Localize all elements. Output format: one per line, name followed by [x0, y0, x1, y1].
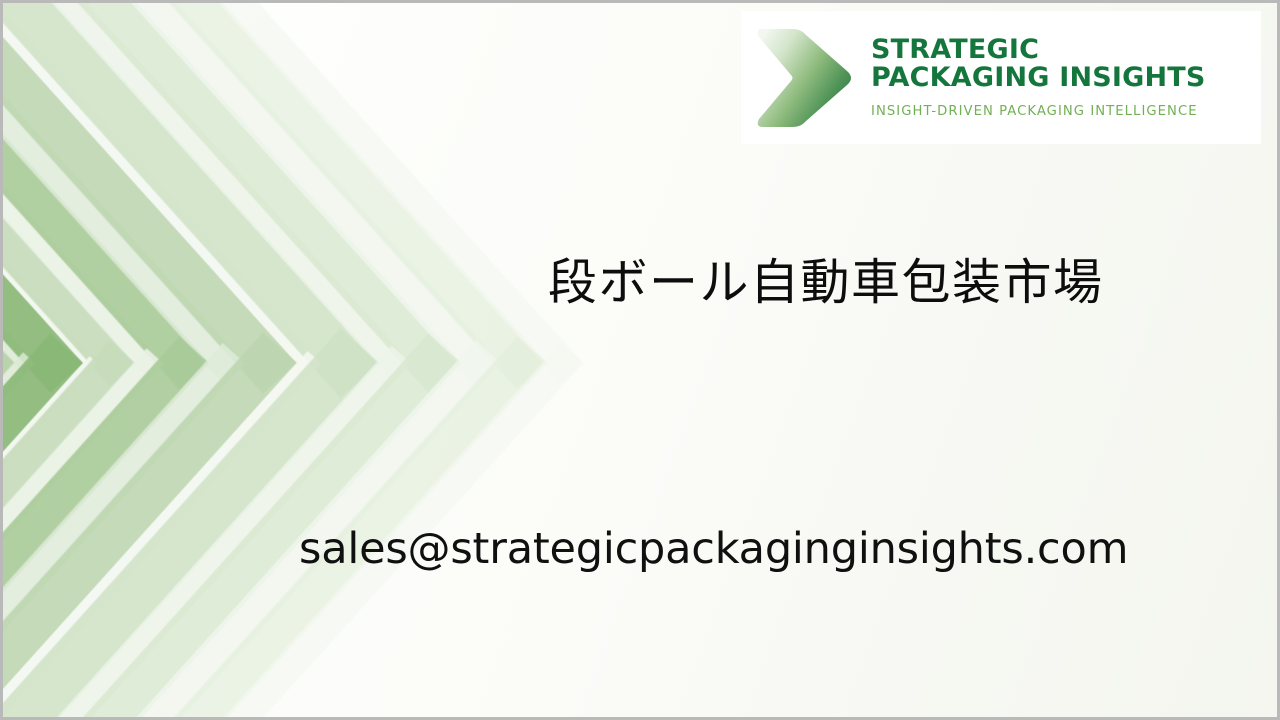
page-title: 段ボール自動車包装市場	[548, 255, 1188, 311]
logo-wordmark: STRATEGIC PACKAGING INSIGHTS INSIGHT-DRI…	[871, 36, 1206, 119]
brand-logo[interactable]: STRATEGIC PACKAGING INSIGHTS INSIGHT-DRI…	[741, 11, 1261, 144]
chevron-right-icon	[747, 19, 865, 137]
logo-line-1: STRATEGIC	[871, 36, 1206, 64]
contact-email[interactable]: sales@strategicpackaginginsights.com	[299, 524, 1128, 574]
logo-line-2: PACKAGING INSIGHTS	[871, 64, 1206, 92]
logo-tagline: INSIGHT-DRIVEN PACKAGING INTELLIGENCE	[871, 104, 1206, 119]
slide-canvas: STRATEGIC PACKAGING INSIGHTS INSIGHT-DRI…	[0, 0, 1280, 720]
